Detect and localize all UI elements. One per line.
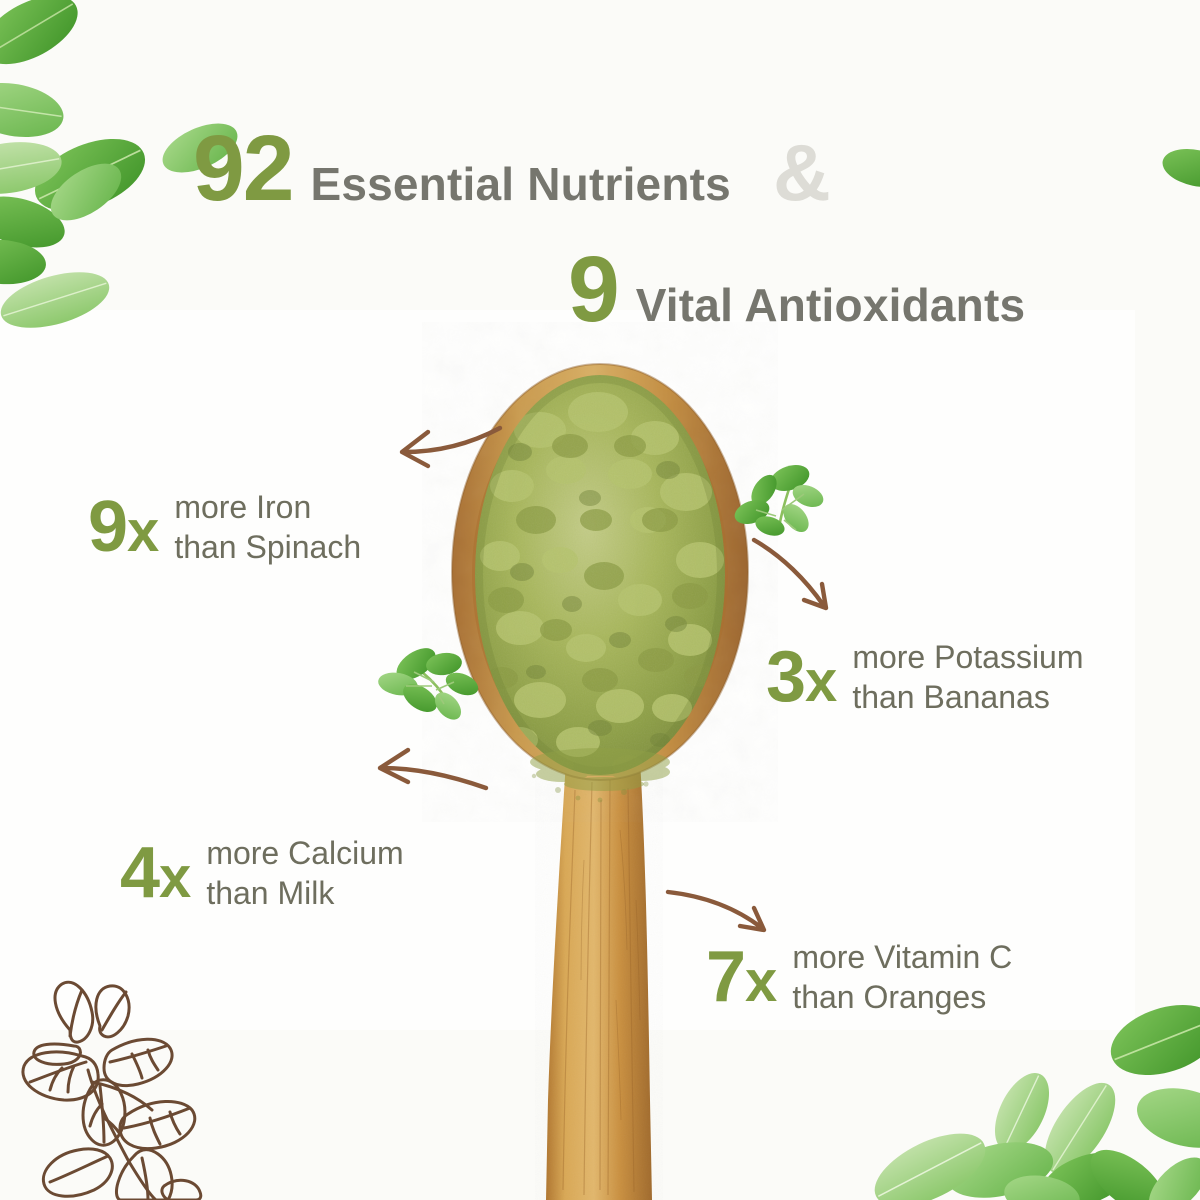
- ampersand-symbol: &: [773, 133, 831, 213]
- headline-label-nutrients: Essential Nutrients: [310, 161, 730, 207]
- headline-number-antioxidants: 9: [568, 243, 618, 336]
- fact-multiplier-iron: 9x: [88, 491, 158, 563]
- fact-card-potassium: 3x more Potassium than Bananas: [766, 637, 1084, 717]
- text-layer: 92 Essential Nutrients & 9 Vital Antioxi…: [0, 0, 1200, 1200]
- fact-line2-calcium: than Milk: [206, 873, 403, 913]
- fact-line2-potassium: than Bananas: [852, 677, 1083, 717]
- fact-line1-calcium: more Calcium: [206, 833, 403, 873]
- fact-line2-iron: than Spinach: [174, 527, 361, 567]
- headline-line-1: 92 Essential Nutrients &: [193, 122, 831, 215]
- fact-text-vitamin-c: more Vitamin C than Oranges: [792, 937, 1012, 1017]
- fact-card-calcium: 4x more Calcium than Milk: [120, 833, 404, 913]
- fact-multiplier-potassium: 3x: [766, 641, 836, 713]
- fact-text-potassium: more Potassium than Bananas: [852, 637, 1083, 717]
- fact-multiplier-vitamin-c: 7x: [706, 941, 776, 1013]
- fact-line1-iron: more Iron: [174, 487, 361, 527]
- fact-line1-vitamin-c: more Vitamin C: [792, 937, 1012, 977]
- headline-line-2: 9 Vital Antioxidants: [568, 243, 1025, 336]
- headline-label-antioxidants: Vital Antioxidants: [636, 282, 1026, 328]
- headline-number-nutrients: 92: [193, 122, 292, 215]
- fact-card-vitamin-c: 7x more Vitamin C than Oranges: [706, 937, 1012, 1017]
- fact-card-iron: 9x more Iron than Spinach: [88, 487, 361, 567]
- fact-text-calcium: more Calcium than Milk: [206, 833, 403, 913]
- fact-multiplier-calcium: 4x: [120, 837, 190, 909]
- fact-line2-vitamin-c: than Oranges: [792, 977, 1012, 1017]
- fact-line1-potassium: more Potassium: [852, 637, 1083, 677]
- fact-text-iron: more Iron than Spinach: [174, 487, 361, 567]
- infographic-canvas: 92 Essential Nutrients & 9 Vital Antioxi…: [0, 0, 1200, 1200]
